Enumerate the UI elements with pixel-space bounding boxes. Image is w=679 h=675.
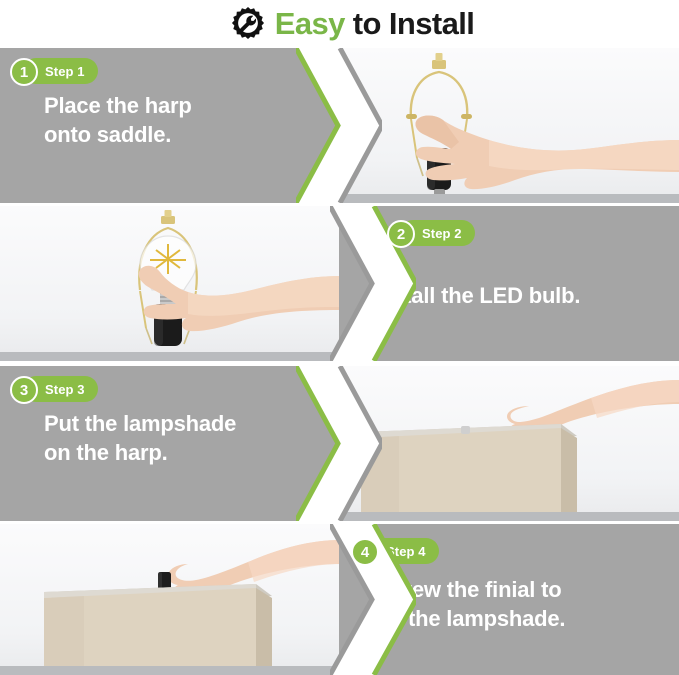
page-title-rest: to Install xyxy=(345,6,474,41)
step-3-badge: Step 3 3 xyxy=(10,376,38,404)
step-2-badge-label: Step 2 xyxy=(422,227,462,240)
row-divider-2 xyxy=(0,361,679,364)
page-title: Easy to Install xyxy=(275,8,474,39)
gear-wrench-icon xyxy=(231,6,265,40)
step-3-photo-panel xyxy=(339,366,679,521)
step-1-text-panel: Step 1 1 Place the harp onto saddle. xyxy=(0,48,340,203)
step-1-badge: Step 1 1 xyxy=(10,58,38,86)
hand-screwing-finial-photo xyxy=(0,524,340,675)
step-4-photo-panel xyxy=(0,524,340,675)
hand-holding-harp-photo xyxy=(339,48,679,203)
step-4-text-panel: Step 4 4 Screw the finial to fix the lam… xyxy=(339,524,679,675)
step-row-4: Step 4 4 Screw the finial to fix the lam… xyxy=(0,524,679,675)
step-1-badge-label: Step 1 xyxy=(45,65,85,78)
page-title-accent: Easy xyxy=(275,6,345,41)
step-2-text-panel: Step 2 2 Install the LED bulb. xyxy=(339,206,679,361)
step-3-text-panel: Step 3 3 Put the lampshade on the harp. xyxy=(0,366,340,521)
step-1-caption: Place the harp onto saddle. xyxy=(44,92,192,149)
row-divider-3 xyxy=(0,521,679,524)
step-4-badge-label: Step 4 xyxy=(386,545,426,558)
step-2-badge: Step 2 2 xyxy=(387,220,415,248)
step-row-2: Step 2 2 Install the LED bulb. xyxy=(0,206,679,361)
step-row-3: Step 3 3 Put the lampshade on the harp. xyxy=(0,366,679,521)
step-3-badge-label: Step 3 xyxy=(45,383,85,396)
step-3-badge-number: 3 xyxy=(10,376,38,404)
step-row-1: Step 1 1 Place the harp onto saddle. xyxy=(0,48,679,203)
step-3-caption: Put the lampshade on the harp. xyxy=(44,410,236,467)
hand-placing-lampshade-photo xyxy=(339,366,679,521)
step-4-caption: Screw the finial to fix the lampshade. xyxy=(377,576,565,633)
page-header: Easy to Install xyxy=(0,0,679,46)
step-4-badge: Step 4 4 xyxy=(351,538,379,566)
row-divider-1 xyxy=(0,203,679,206)
easy-to-install-infographic: Easy to Install Step 1 1 Place the harp … xyxy=(0,0,679,675)
hand-installing-bulb-photo xyxy=(0,206,340,361)
step-2-photo-panel xyxy=(0,206,340,361)
step-1-photo-panel xyxy=(339,48,679,203)
step-1-badge-number: 1 xyxy=(10,58,38,86)
step-2-caption: Install the LED bulb. xyxy=(373,282,580,311)
step-2-badge-number: 2 xyxy=(387,220,415,248)
step-4-badge-number: 4 xyxy=(351,538,379,566)
